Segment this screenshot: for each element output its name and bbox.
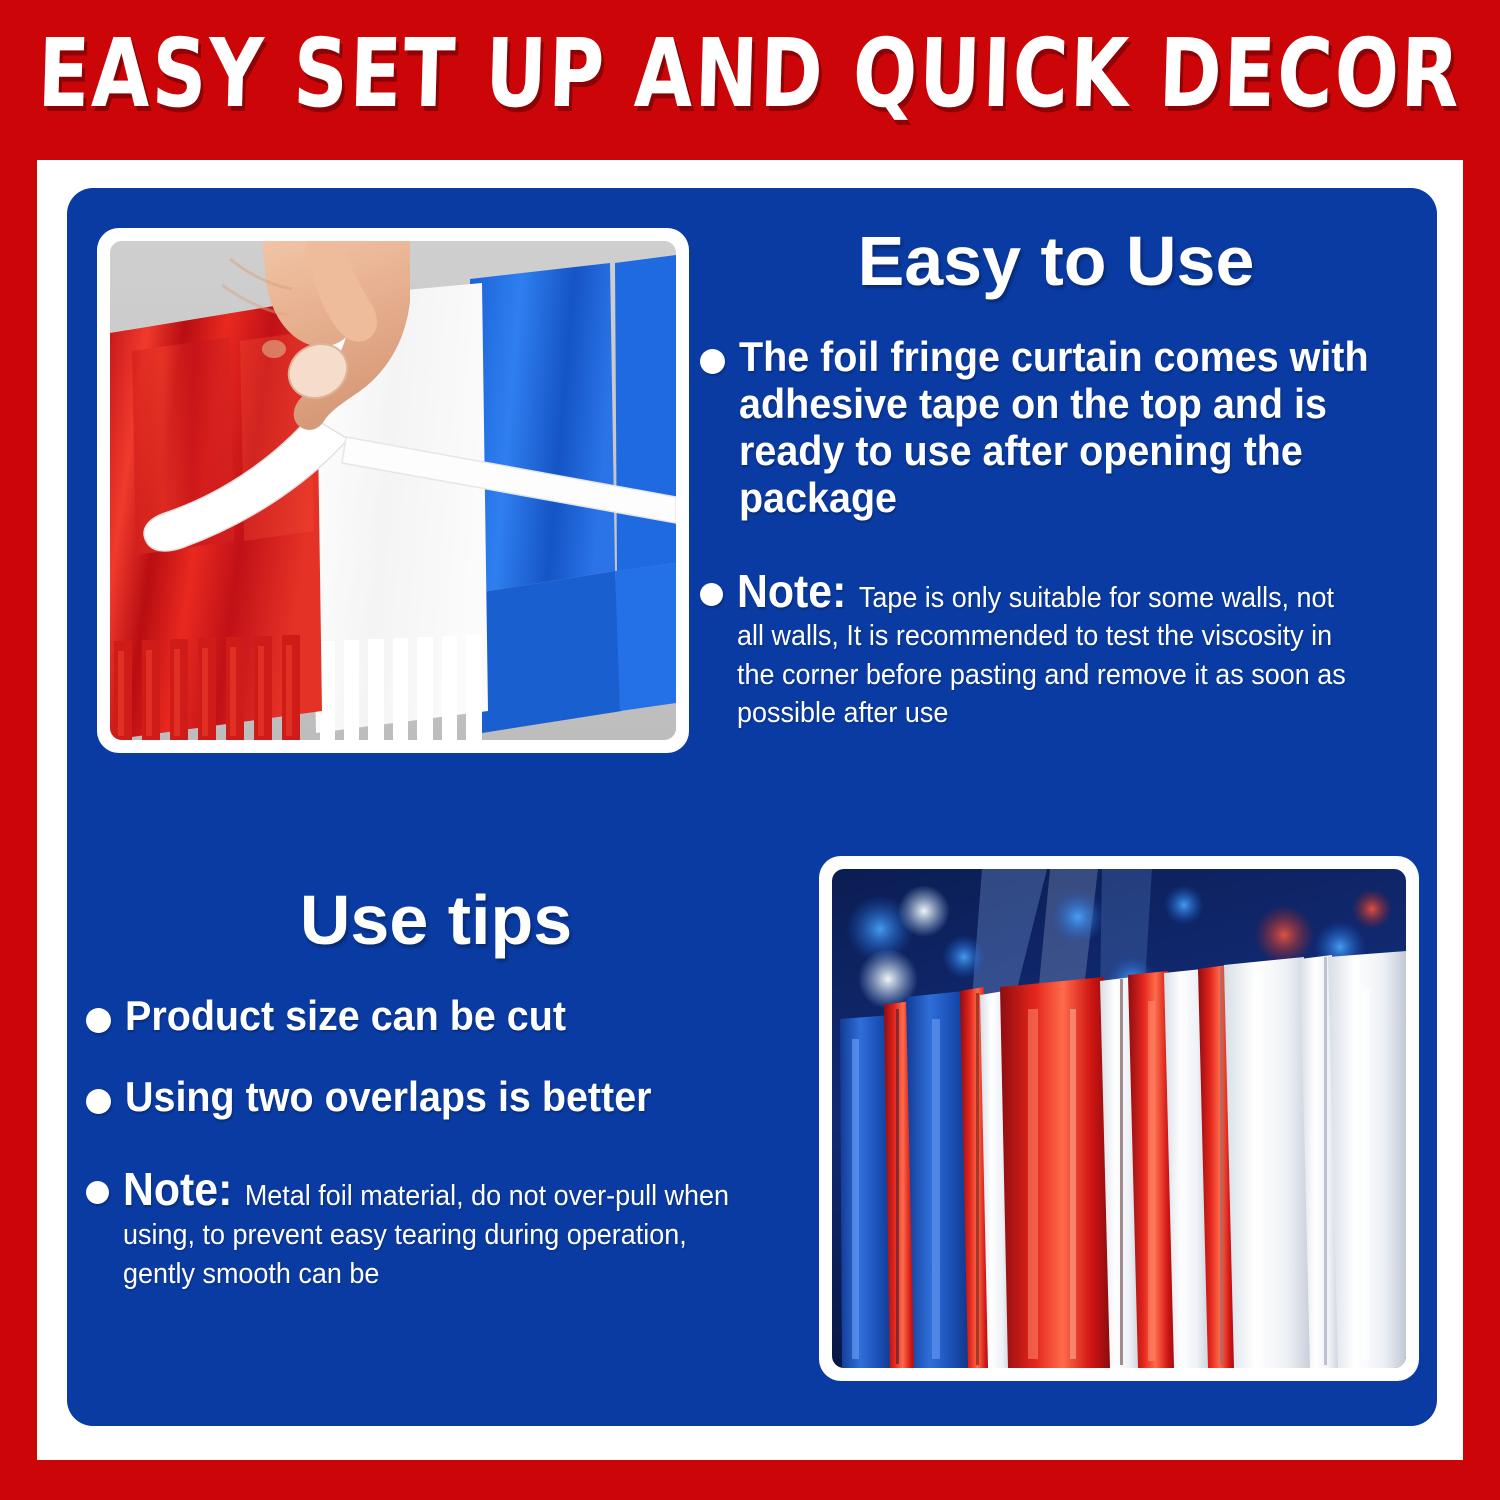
- use-tips-note-body: Note: Metal foil material, do not over-p…: [123, 1166, 740, 1293]
- bullet-dot-icon: [700, 583, 723, 606]
- use-tips-bullet-2-text: Using two overlaps is better: [125, 1073, 652, 1120]
- header-banner: EASY SET UP AND QUICK DECOR: [0, 0, 1500, 148]
- note-label: Note:: [123, 1163, 232, 1215]
- section-easy-to-use: Easy to Use The foil fringe curtain come…: [700, 226, 1412, 733]
- bullet-dot-icon: [700, 349, 725, 374]
- hanging-fringe-illustration: [832, 869, 1406, 1368]
- photo-frame-hanging-fringe: [819, 856, 1419, 1381]
- bullet-dot-icon: [86, 1089, 111, 1114]
- easy-to-use-note-body: Note: Tape is only suitable for some wal…: [737, 568, 1365, 733]
- use-tips-bullet-1-text: Product size can be cut: [125, 992, 566, 1039]
- easy-to-use-heading: Easy to Use: [700, 226, 1412, 297]
- page-title: EASY SET UP AND QUICK DECOR: [37, 19, 1463, 129]
- use-tips-bullet-1: Product size can be cut: [86, 992, 786, 1039]
- note-label: Note:: [737, 565, 846, 617]
- use-tips-heading: Use tips: [86, 885, 786, 956]
- infographic-page: EASY SET UP AND QUICK DECOR: [0, 0, 1500, 1500]
- section-use-tips: Use tips Product size can be cut Using t…: [86, 885, 786, 1293]
- easy-to-use-note: Note: Tape is only suitable for some wal…: [700, 568, 1412, 733]
- photo-hand-peeling-adhesive-tape: [110, 241, 676, 740]
- tape-peel-illustration: [110, 241, 676, 740]
- use-tips-bullet-2: Using two overlaps is better: [86, 1073, 786, 1120]
- use-tips-note: Note: Metal foil material, do not over-p…: [86, 1166, 786, 1293]
- bullet-dot-icon: [86, 1008, 111, 1033]
- photo-frame-tape-peel: [97, 228, 689, 753]
- photo-hanging-foil-fringe-curtain: [832, 869, 1406, 1368]
- easy-to-use-bullet-1: The foil fringe curtain comes with adhes…: [700, 333, 1412, 521]
- easy-to-use-bullet-1-text: The foil fringe curtain comes with adhes…: [739, 333, 1372, 521]
- bullet-dot-icon: [86, 1181, 109, 1204]
